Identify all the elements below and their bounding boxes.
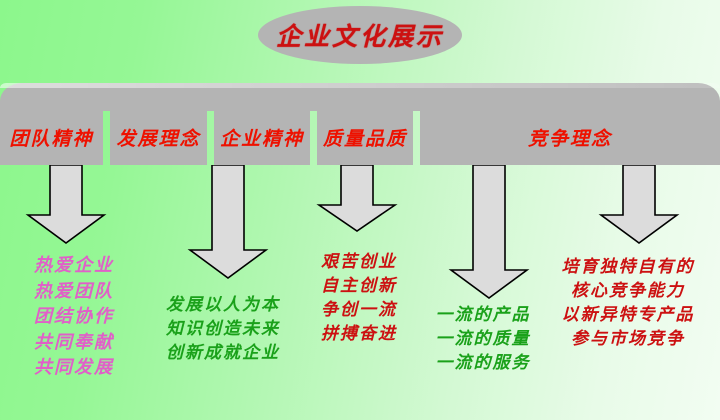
category-box-2[interactable]: 发展理念 bbox=[110, 110, 207, 165]
arrow-down-team-spirit bbox=[14, 165, 118, 245]
text-line: 一流的质量 bbox=[424, 327, 542, 351]
text-line: 以新异特专产品 bbox=[538, 303, 718, 327]
text-column-enterprise-spirit: 艰苦创业 自主创新 争创一流 拼搏奋进 bbox=[300, 250, 418, 347]
category-box-5[interactable]: 竞争理念 bbox=[420, 110, 720, 165]
text-line: 参与市场竞争 bbox=[538, 327, 718, 351]
text-line: 一流的服务 bbox=[424, 351, 542, 375]
text-line: 知识创造未来 bbox=[148, 317, 298, 341]
text-line: 争创一流 bbox=[300, 298, 418, 322]
text-line: 发展以人为本 bbox=[148, 293, 298, 317]
text-line: 共同发展 bbox=[4, 355, 144, 381]
text-line: 热爱团队 bbox=[4, 279, 144, 305]
text-column-quality: 一流的产品 一流的质量 一流的服务 bbox=[424, 303, 542, 375]
banner-bar bbox=[0, 83, 720, 111]
enterprise-culture-poster: 企业文化展示 团队精神 发展理念 企业精神 质量品质 竞争理念 bbox=[0, 0, 720, 420]
category-box-1[interactable]: 团队精神 bbox=[0, 110, 103, 165]
text-line: 自主创新 bbox=[300, 274, 418, 298]
text-line: 一流的产品 bbox=[424, 303, 542, 327]
arrow-down-quality bbox=[437, 165, 541, 300]
text-line: 创新成就企业 bbox=[148, 341, 298, 365]
category-label-2: 发展理念 bbox=[116, 124, 200, 151]
text-column-development-concept: 发展以人为本 知识创造未来 创新成就企业 bbox=[148, 293, 298, 365]
category-label-1: 团队精神 bbox=[9, 124, 93, 151]
page-title: 企业文化展示 bbox=[276, 17, 444, 53]
category-label-3: 企业精神 bbox=[220, 124, 304, 151]
text-line: 热爱企业 bbox=[4, 253, 144, 279]
text-line: 团结协作 bbox=[4, 304, 144, 330]
arrow-down-enterprise-spirit bbox=[305, 165, 409, 233]
category-label-4: 质量品质 bbox=[323, 124, 407, 151]
text-column-competition-concept: 培育独特自有的 核心竞争能力 以新异特专产品 参与市场竞争 bbox=[538, 255, 718, 352]
category-box-4[interactable]: 质量品质 bbox=[317, 110, 413, 165]
arrow-down-development-concept bbox=[176, 165, 280, 280]
text-line: 培育独特自有的 bbox=[538, 255, 718, 279]
text-line: 拼搏奋进 bbox=[300, 322, 418, 346]
text-line: 核心竞争能力 bbox=[538, 279, 718, 303]
text-line: 共同奉献 bbox=[4, 330, 144, 356]
category-label-5: 竞争理念 bbox=[528, 124, 612, 151]
text-line: 艰苦创业 bbox=[300, 250, 418, 274]
title-ellipse: 企业文化展示 bbox=[258, 6, 462, 64]
category-box-3[interactable]: 企业精神 bbox=[214, 110, 310, 165]
banner-gloss bbox=[0, 83, 720, 88]
arrow-down-competition-concept bbox=[587, 165, 691, 245]
text-column-team-spirit: 热爱企业 热爱团队 团结协作 共同奉献 共同发展 bbox=[4, 253, 144, 381]
